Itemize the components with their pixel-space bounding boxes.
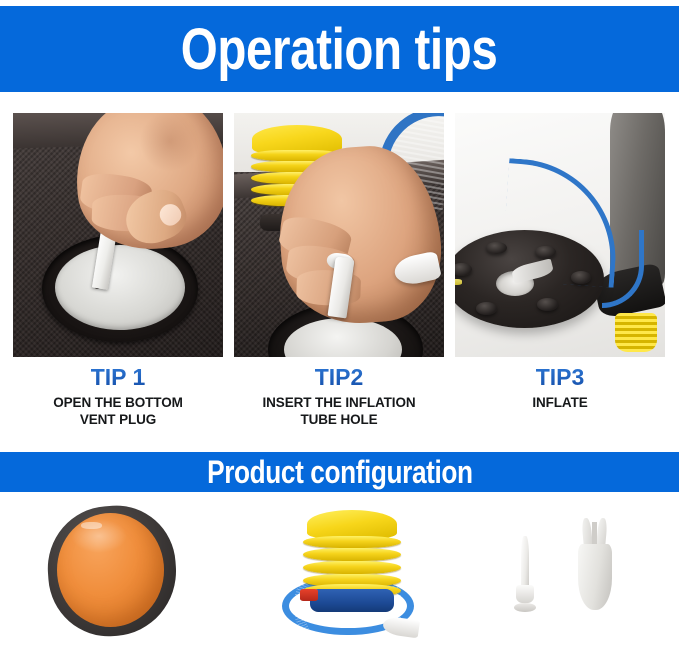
config-item-accessories bbox=[470, 496, 679, 652]
tip-1-label: TIP 1 bbox=[13, 364, 223, 390]
tip-1-photo bbox=[13, 113, 223, 357]
yellow-tab bbox=[455, 279, 462, 285]
tip-3-description-line-1: INFLATE bbox=[455, 394, 665, 411]
tip-1-description: OPEN THE BOTTOM VENT PLUG bbox=[13, 394, 223, 428]
pump-bellow bbox=[303, 548, 401, 561]
operation-tips-banner: Operation tips bbox=[0, 6, 679, 92]
tip-caption-2: TIP2 INSERT THE INFLATION TUBE HOLE bbox=[234, 364, 444, 434]
tip-2-photo bbox=[234, 113, 444, 357]
config-item-balance-disc bbox=[0, 496, 240, 652]
infographic-page: Operation tips bbox=[0, 0, 679, 652]
tip-3-label: TIP3 bbox=[455, 364, 665, 390]
tip-caption-1: TIP 1 OPEN THE BOTTOM VENT PLUG bbox=[13, 364, 223, 434]
tip-3-photo bbox=[455, 113, 665, 357]
pump-dome bbox=[307, 510, 397, 538]
tip-2-label: TIP2 bbox=[234, 364, 444, 390]
yellow-foot-pump bbox=[282, 510, 422, 638]
nozzle-shaft bbox=[521, 536, 528, 589]
disc-foot bbox=[455, 263, 472, 276]
pump-bellow bbox=[303, 536, 401, 549]
page-title: Operation tips bbox=[181, 16, 498, 83]
tool-body bbox=[578, 544, 612, 610]
tip-card-2 bbox=[234, 113, 444, 357]
nozzle-flange bbox=[516, 585, 535, 603]
knuckle-shading bbox=[136, 113, 202, 175]
white-nozzle-adapter bbox=[512, 536, 538, 612]
thumbnail bbox=[156, 200, 185, 229]
disc-logo bbox=[81, 522, 101, 530]
product-configuration-title: Product configuration bbox=[207, 454, 472, 491]
vent-membrane bbox=[55, 245, 185, 330]
red-valve bbox=[300, 589, 318, 601]
tip-1-description-line-2: VENT PLUG bbox=[13, 411, 223, 428]
white-plug-removal-tool bbox=[574, 518, 616, 610]
pump-bellow bbox=[303, 561, 401, 574]
tip-3-description: INFLATE bbox=[455, 394, 665, 411]
tip-2-description: INSERT THE INFLATION TUBE HOLE bbox=[234, 394, 444, 428]
tip-2-description-line-1: INSERT THE INFLATION bbox=[234, 394, 444, 411]
tip-card-3 bbox=[455, 113, 665, 357]
product-configuration-row bbox=[0, 496, 679, 652]
tip-caption-3: TIP3 INFLATE bbox=[455, 364, 665, 434]
product-configuration-banner: Product configuration bbox=[0, 452, 679, 492]
orange-balance-disc bbox=[48, 506, 176, 636]
tip-card-1 bbox=[13, 113, 223, 357]
config-item-foot-pump bbox=[240, 496, 470, 652]
nozzle-base bbox=[514, 603, 537, 612]
white-nozzle bbox=[382, 615, 421, 638]
tip-photos-row bbox=[13, 113, 666, 357]
disc-foot bbox=[476, 302, 497, 315]
foot-pump bbox=[615, 313, 657, 352]
pump-base bbox=[310, 589, 394, 612]
disc-foot bbox=[537, 298, 558, 311]
tip-captions-row: TIP 1 OPEN THE BOTTOM VENT PLUG TIP2 INS… bbox=[13, 364, 666, 434]
white-nozzle bbox=[392, 251, 442, 288]
tip-2-description-line-2: TUBE HOLE bbox=[234, 411, 444, 428]
tip-1-description-line-1: OPEN THE BOTTOM bbox=[13, 394, 223, 411]
